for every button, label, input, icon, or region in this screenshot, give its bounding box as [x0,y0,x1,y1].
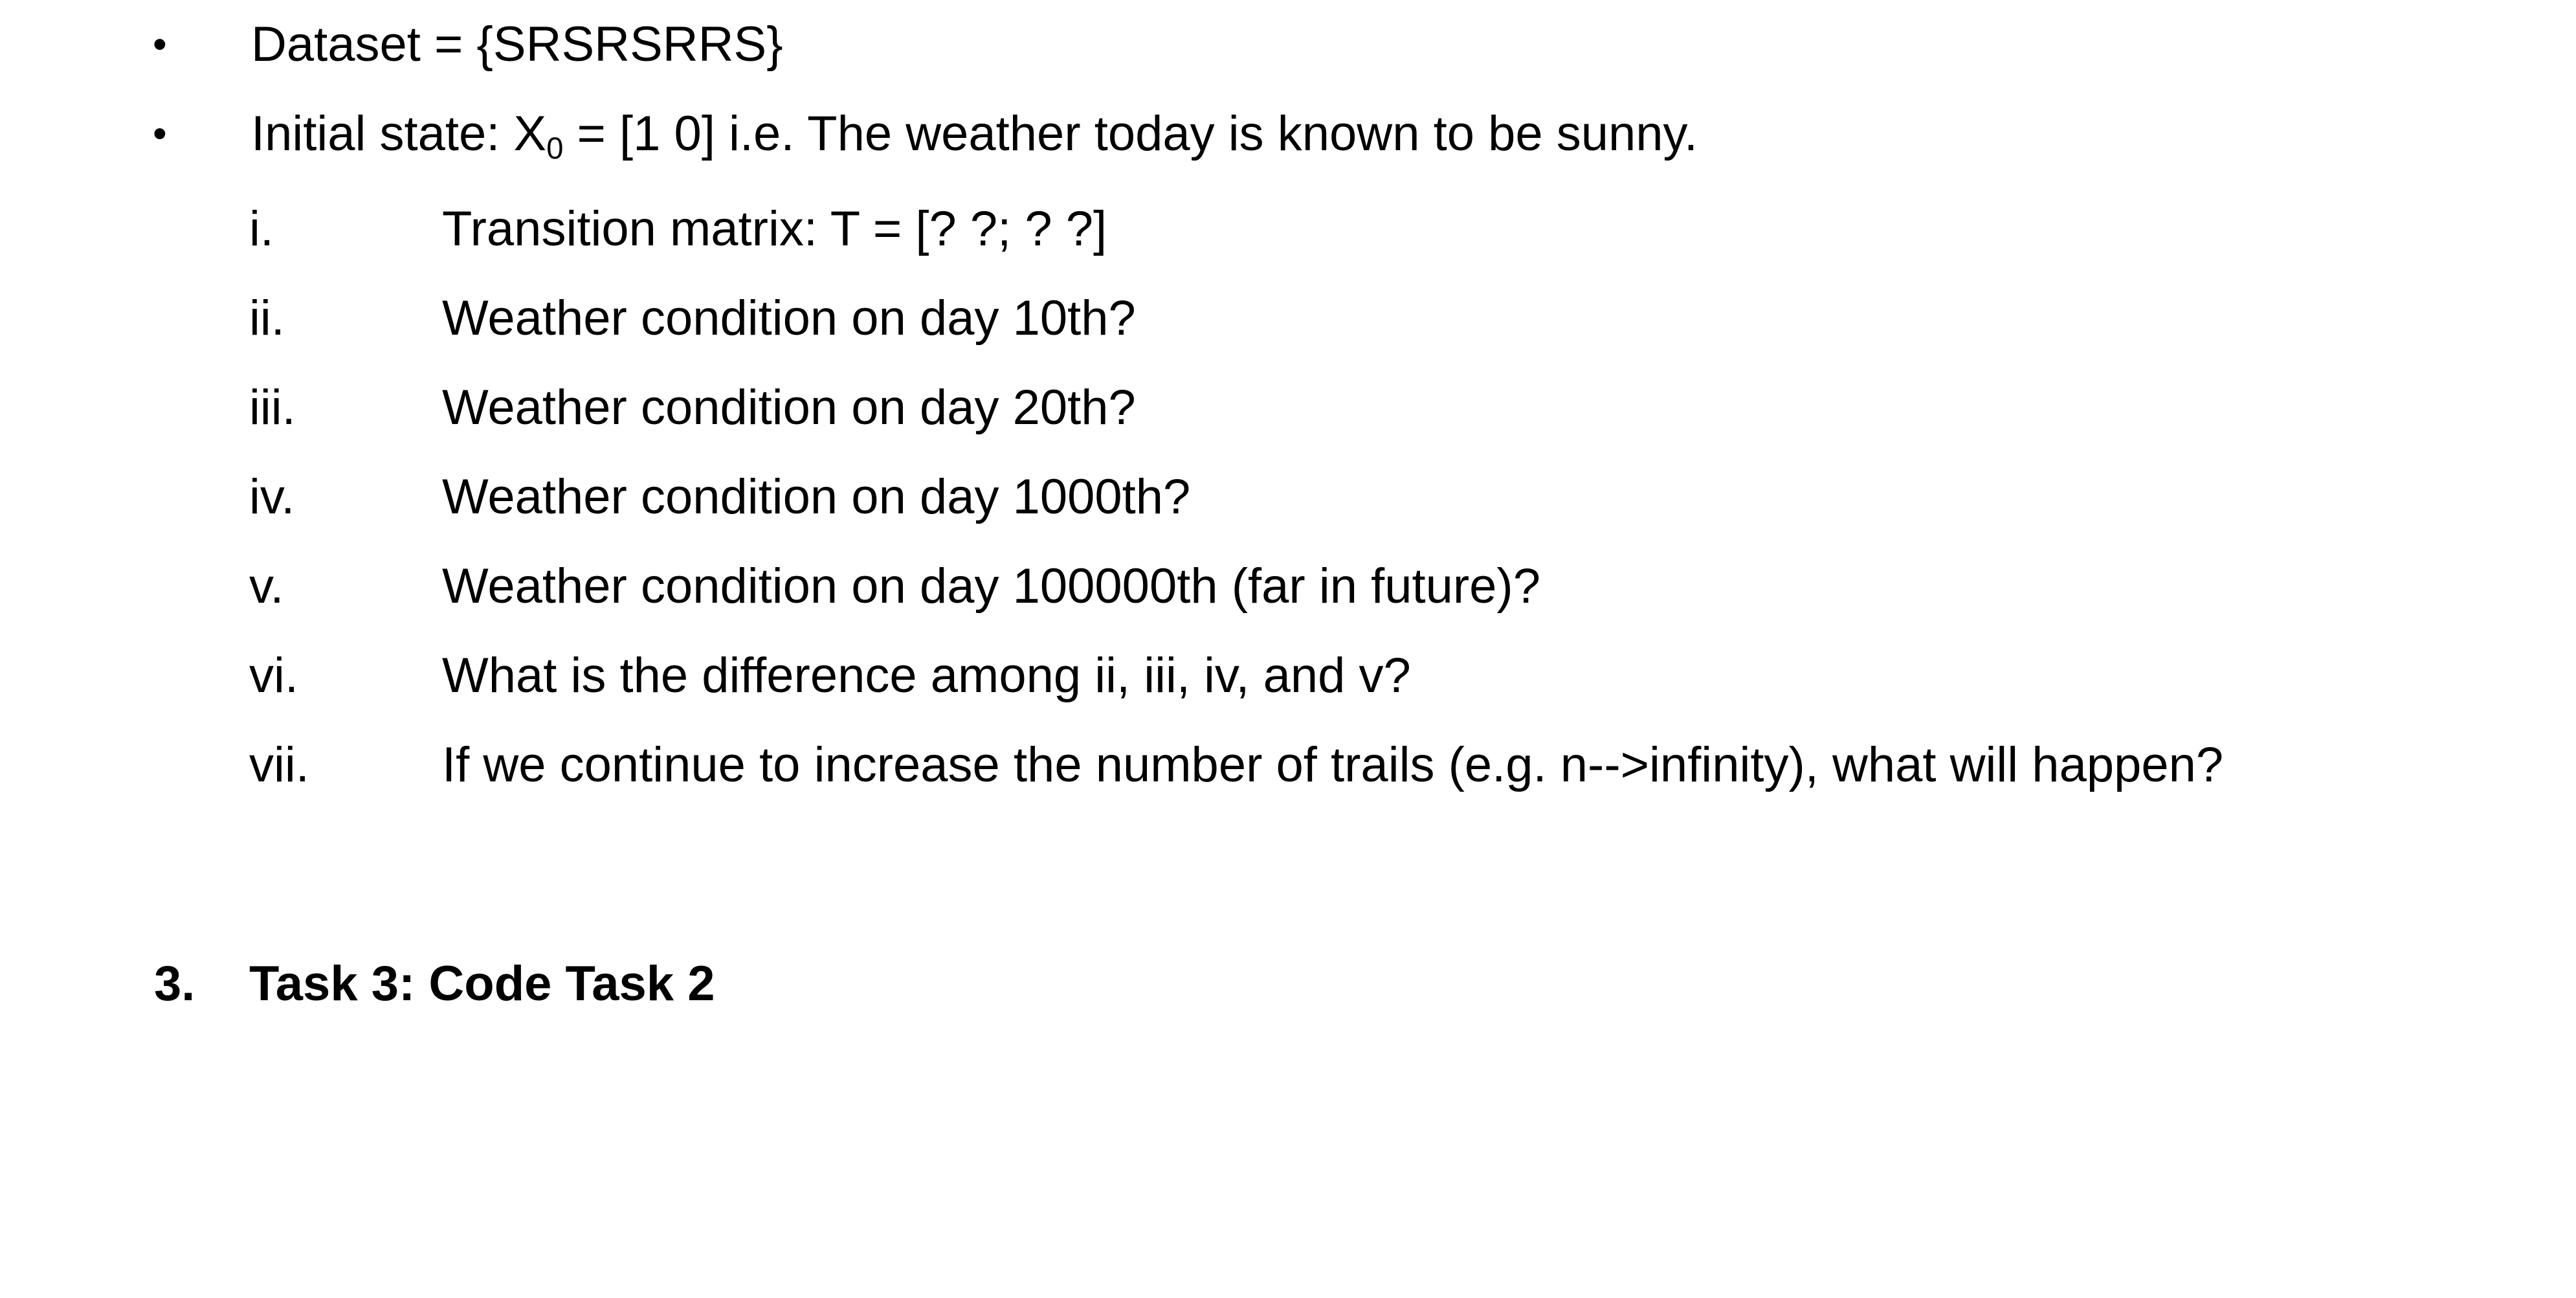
roman-item-label: Weather condition on day 100000th (far i… [442,542,2377,631]
numbered-marker: 3. [154,939,195,1029]
list-item: • Dataset = {SRSRSRRS} [0,0,2576,89]
state-subscript: 0 [546,131,563,165]
list-item: vi. What is the difference among ii, iii… [0,631,2576,721]
roman-item-label: If we continue to increase the number of… [442,721,2377,810]
roman-item-label: Transition matrix: T = [? ?; ? ?] [442,185,2377,274]
bullet-item-label: Initial state: X0 = [1 0] i.e. The weath… [251,106,1698,161]
roman-item-label: What is the difference among ii, iii, iv… [442,631,2377,721]
document-page: • Dataset = {SRSRSRRS} • Initial state: … [0,0,2576,1298]
paragraph-spacer [0,810,2576,939]
roman-numeral-marker: i. [249,185,274,274]
bullet-item-label: Dataset = {SRSRSRRS} [251,17,783,72]
roman-numeral-marker: iv. [249,453,294,542]
roman-numeral-marker: iii. [249,363,296,453]
list-item: • Initial state: X0 = [1 0] i.e. The wea… [0,89,2576,185]
roman-numeral-marker: ii. [249,274,285,363]
roman-item-label: Weather condition on day 20th? [442,363,2377,453]
document-content: • Dataset = {SRSRSRRS} • Initial state: … [0,0,2576,1029]
bullet-list: • Dataset = {SRSRSRRS} • Initial state: … [0,0,2576,185]
list-item: v. Weather condition on day 100000th (fa… [0,542,2576,631]
list-item: ii. Weather condition on day 10th? [0,274,2576,363]
roman-numeral-marker: v. [249,542,283,631]
initial-state-suffix: = [1 0] i.e. The weather today is known … [563,106,1698,161]
list-item: iv. Weather condition on day 1000th? [0,453,2576,542]
list-item: i. Transition matrix: T = [? ?; ? ?] [0,185,2576,274]
bullet-point-icon: • [153,89,175,179]
roman-item-label: Weather condition on day 1000th? [442,453,2377,542]
roman-item-label: Weather condition on day 10th? [442,274,2377,363]
roman-numeral-marker: vi. [249,631,298,721]
list-item: iii. Weather condition on day 20th? [0,363,2576,453]
list-item: vii. If we continue to increase the numb… [0,721,2576,810]
task-heading-label: Task 3: Code Task 2 [249,956,715,1011]
roman-numeral-marker: vii. [249,721,309,810]
roman-numeral-list: i. Transition matrix: T = [? ?; ? ?] ii.… [0,185,2576,810]
numbered-heading-list: 3. Task 3: Code Task 2 [0,939,2576,1029]
initial-state-prefix: Initial state: X [251,106,546,161]
bullet-point-icon: • [153,0,175,89]
list-item: 3. Task 3: Code Task 2 [0,939,2576,1029]
